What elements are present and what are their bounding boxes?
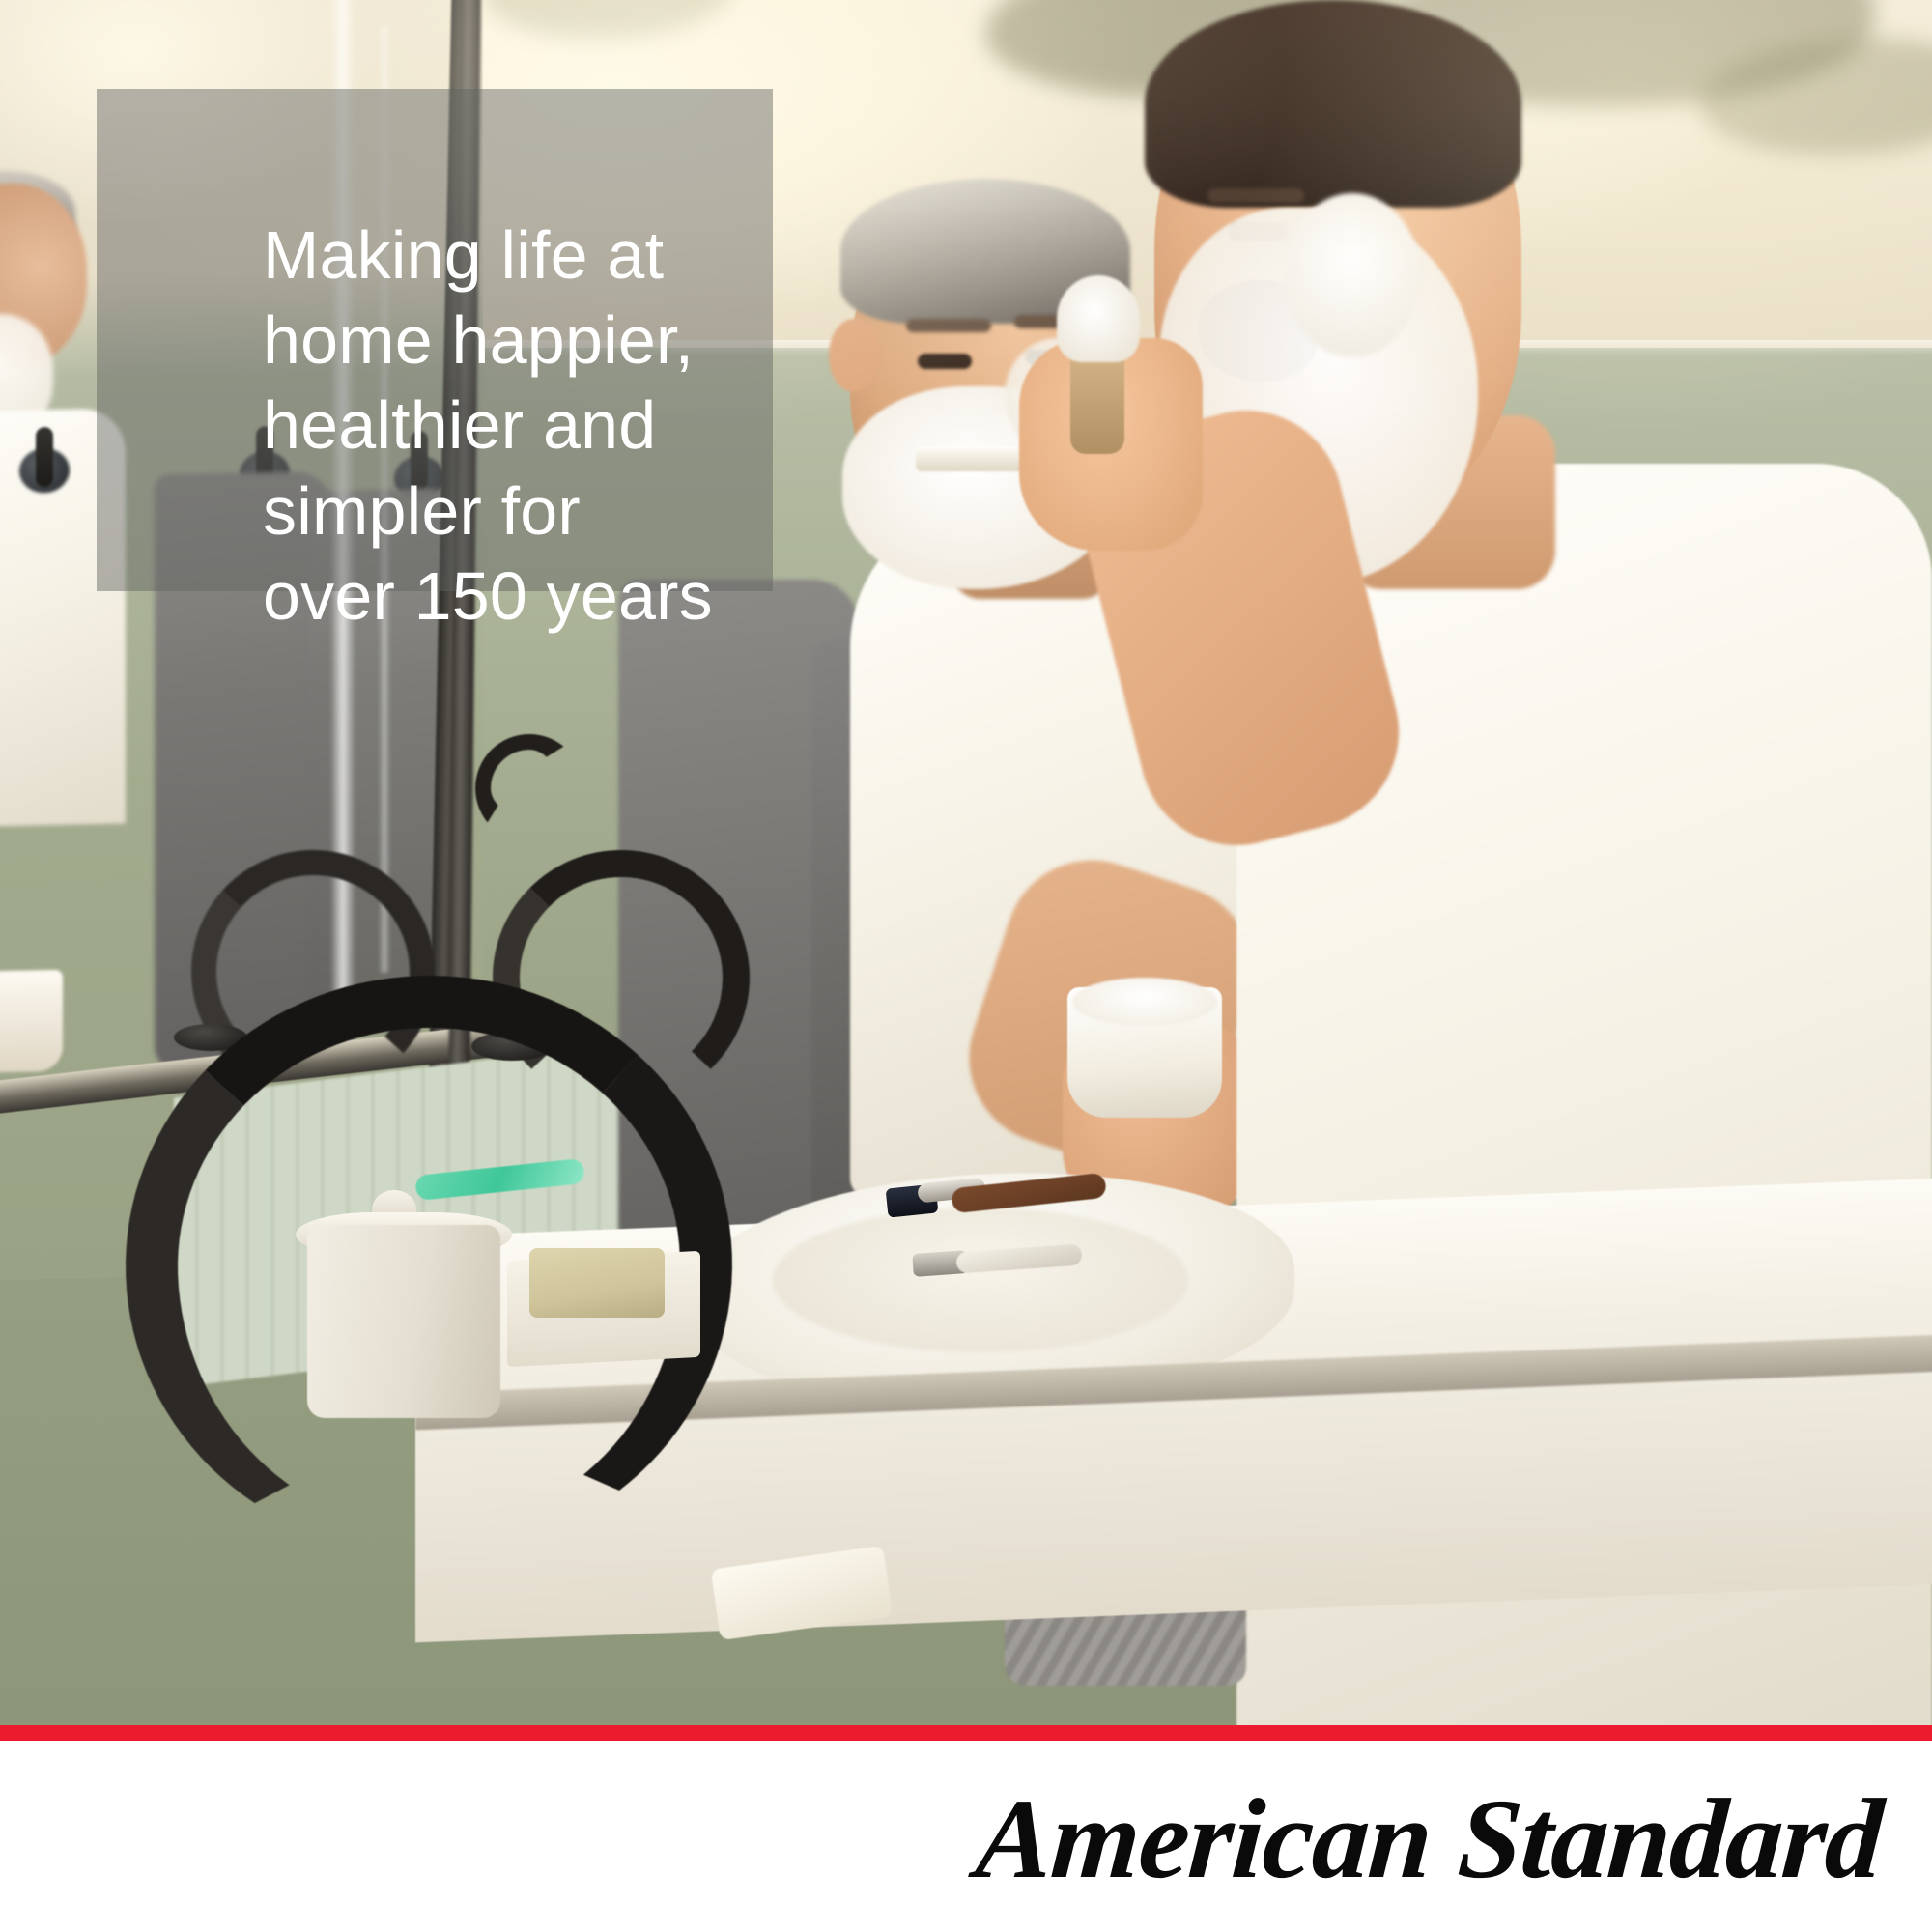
man-eyebrow xyxy=(906,319,991,332)
soap-bar xyxy=(529,1248,665,1318)
headline-line-1: Making life at xyxy=(263,213,862,298)
man-eye xyxy=(918,354,972,369)
mirror-reflection-cup xyxy=(0,970,63,1073)
wall-hook-icon xyxy=(36,427,53,487)
shaving-brush-head xyxy=(1057,275,1140,362)
headline-line-3: healthier and xyxy=(263,383,862,468)
hero-photo: Making life at home happier, healthier a… xyxy=(0,0,1932,1725)
boy-eyebrow xyxy=(1207,188,1304,203)
sink-basin-inner xyxy=(773,1207,1188,1352)
shaving-foam-in-cup xyxy=(1072,978,1217,1026)
faucet-spout-handle xyxy=(475,734,583,842)
headline-line-4: simpler for xyxy=(263,469,862,554)
footer-bar: American Standard xyxy=(0,1741,1932,1932)
man-teeth xyxy=(916,446,1024,471)
boy-foam-cheek xyxy=(1285,193,1420,357)
headline-overlay-panel: Making life at home happier, healthier a… xyxy=(97,89,773,591)
brand-accent-bar xyxy=(0,1725,1932,1741)
headline-text: Making life at home happier, healthier a… xyxy=(263,213,862,639)
american-standard-logo: American Standard xyxy=(972,1774,1887,1905)
ad-creative: Making life at home happier, healthier a… xyxy=(0,0,1932,1932)
boy-hair xyxy=(1145,0,1521,208)
headline-line-2: home happier, xyxy=(263,298,862,383)
ceramic-jar xyxy=(307,1225,500,1418)
headline-line-5: over 150 years xyxy=(263,554,862,639)
